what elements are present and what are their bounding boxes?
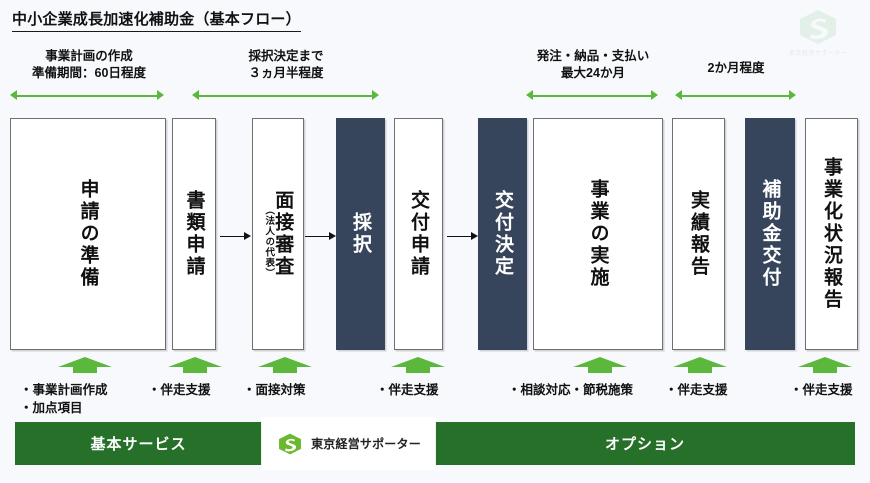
flow-box-application-prep[interactable]: 申請の準備	[10, 118, 166, 350]
flow-diagram-canvas: 東京経営サポーター 中小企業成長加速化補助金（基本フロー） 事業計画の作成 準備…	[0, 0, 870, 483]
support-arrow-3	[255, 357, 315, 373]
flow-box-label: 事業の実施	[589, 179, 608, 289]
banner-basic-service-label: 基本サービス	[15, 422, 262, 465]
logo-badge-label: 東京経営サポーター	[311, 435, 421, 452]
connector-arrow-2	[305, 232, 336, 241]
connector-arrow-1	[220, 232, 251, 241]
period-label-execution: 発注・納品・支払い 最大24か月	[505, 48, 681, 82]
flow-box-interview-review[interactable]: （法人の代表） 面接審査	[252, 118, 304, 350]
timeline-arrow-payment	[675, 90, 796, 101]
flow-box-label: 実績報告	[689, 190, 708, 278]
logo-badge: 東京経営サポーター	[262, 418, 435, 469]
flow-box-label: 申請の準備	[79, 179, 98, 289]
support-arrow-1	[55, 357, 115, 373]
period-label-adoption: 採択決定まで ３ヵ月半程度	[198, 48, 374, 82]
flow-box-label: 交付決定	[493, 190, 512, 278]
support-arrow-7	[795, 357, 855, 373]
period-label-payment: 2か月程度	[675, 60, 797, 77]
flow-box-label: 面接審査	[273, 190, 292, 278]
timeline-arrow-prep	[10, 90, 164, 101]
flow-box-label: 事業化状況報告	[822, 157, 841, 311]
flow-box-label: 書類申請	[185, 190, 204, 278]
flow-box-results-report[interactable]: 実績報告	[672, 118, 725, 350]
timeline-arrow-execution	[526, 90, 658, 101]
flow-box-document-filing[interactable]: 書類申請	[172, 118, 216, 350]
support-label-accompaniment-3: ・伴走支援	[665, 381, 728, 399]
banner-option-label: オプション	[435, 422, 855, 465]
flow-box-label: 交付申請	[409, 190, 428, 278]
flow-box-label: 補助金交付	[761, 179, 780, 289]
flow-box-grant-application[interactable]: 交付申請	[394, 118, 443, 350]
flow-box-subsidy-payment[interactable]: 補助金交付	[745, 118, 795, 350]
page-title: 中小企業成長加速化補助金（基本フロー）	[12, 8, 301, 32]
support-arrow-2	[165, 357, 225, 373]
support-label-accompaniment-2: ・伴走支援	[376, 381, 439, 399]
support-arrow-4	[388, 357, 448, 373]
support-arrow-5	[570, 357, 630, 373]
support-label-consult-and-tax: ・相談対応・節税施策	[508, 381, 633, 399]
flow-box-grant-decision[interactable]: 交付決定	[478, 118, 527, 350]
supporter-logo-icon	[276, 432, 304, 456]
support-label-accompaniment-4: ・伴走支援	[790, 381, 853, 399]
service-banner: 基本サービス オプション 東京経営サポーター	[15, 422, 855, 465]
period-label-prep: 事業計画の作成 準備期間：60日程度	[10, 48, 168, 82]
flow-box-commercialization-report[interactable]: 事業化状況報告	[805, 118, 858, 350]
connector-arrow-3	[447, 232, 478, 241]
support-label-plan-and-points: ・事業計画作成 ・加点項目	[20, 381, 108, 417]
flow-box-project-execution[interactable]: 事業の実施	[533, 118, 663, 350]
watermark-logo: 東京経営サポーター	[780, 4, 856, 60]
support-label-interview-prep: ・面接対策	[243, 381, 306, 399]
support-arrow-6	[670, 357, 730, 373]
support-label-accompaniment-1: ・伴走支援	[148, 381, 211, 399]
watermark-label: 東京経営サポーター	[789, 48, 848, 57]
timeline-arrow-adoption	[192, 90, 379, 101]
flow-box-adopted[interactable]: 採択	[336, 118, 385, 350]
flow-box-label: 採択	[351, 212, 370, 256]
